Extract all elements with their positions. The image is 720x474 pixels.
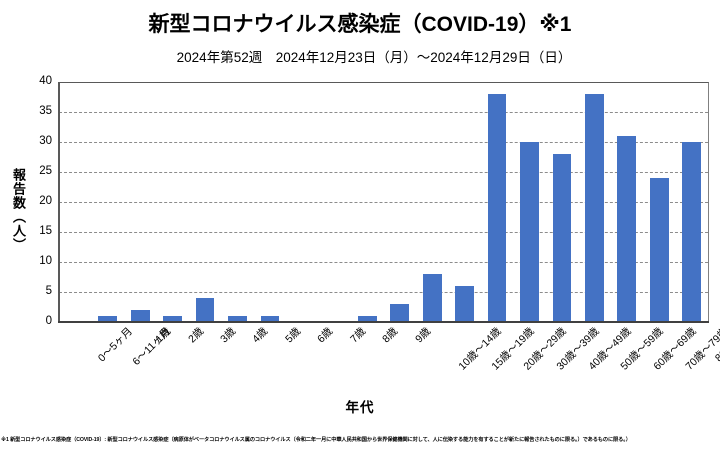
bar[interactable] [650, 178, 669, 322]
chart-subtitle: 2024年第52週 2024年12月23日（月）～2024年12月29日（日） [0, 46, 720, 66]
y-tick-label: 15 [26, 226, 52, 237]
x-tick-label: 5歳 [284, 326, 303, 345]
bar[interactable] [455, 286, 474, 322]
bar-column[interactable] [286, 82, 318, 322]
bar[interactable] [520, 142, 539, 322]
bar-column[interactable] [611, 82, 643, 322]
bar-column[interactable] [384, 82, 416, 322]
x-tick-label: 8歳 [381, 326, 400, 345]
x-axis-tick-labels: 0～5ヶ月6～11ヶ月1歳2歳3歳4歳5歳6歳7歳8歳9歳10歳～14歳15歳～… [59, 323, 708, 393]
x-axis-title: 年代 [0, 396, 720, 416]
x-tick-label: 6歳 [316, 326, 335, 345]
bar-column[interactable] [513, 82, 545, 322]
bar-column[interactable] [351, 82, 383, 322]
x-tick-label: 4歳 [251, 326, 270, 345]
x-tick-label: 7歳 [349, 326, 368, 345]
bar-column[interactable] [59, 82, 91, 322]
y-tick-label: 40 [26, 76, 52, 87]
y-tick-label: 20 [26, 196, 52, 207]
bar[interactable] [617, 136, 636, 322]
x-tick-label: 9歳 [414, 326, 433, 345]
bar-column[interactable] [416, 82, 448, 322]
bar-column[interactable] [254, 82, 286, 322]
y-tick-label: 30 [26, 136, 52, 147]
bar-column[interactable] [221, 82, 253, 322]
bar-column[interactable] [676, 82, 708, 322]
y-axis-tick-labels: 0510152025303540 [22, 82, 52, 322]
bar[interactable] [423, 274, 442, 322]
x-tick-label: 2歳 [186, 326, 205, 345]
bar-column[interactable] [481, 82, 513, 322]
bar-column[interactable] [124, 82, 156, 322]
plot-area [59, 82, 708, 322]
bar-column[interactable] [448, 82, 480, 322]
bar[interactable] [488, 94, 507, 322]
y-axis-line [58, 82, 60, 323]
y-tick-label: 0 [26, 316, 52, 327]
bar-column[interactable] [156, 82, 188, 322]
bar[interactable] [196, 298, 215, 322]
bar-column[interactable] [319, 82, 351, 322]
bar[interactable] [553, 154, 572, 322]
y-tick-label: 5 [26, 286, 52, 297]
y-tick-label: 25 [26, 166, 52, 177]
footnote: ※1 新型コロナウイルス感染症（COVID-19）: 新型コロナウイルス感染症（… [1, 437, 717, 445]
bar-column[interactable] [643, 82, 675, 322]
bar[interactable] [390, 304, 409, 322]
bar-column[interactable] [546, 82, 578, 322]
y-tick-label: 35 [26, 106, 52, 117]
bar-column[interactable] [578, 82, 610, 322]
page-title: 新型コロナウイルス感染症（COVID-19）※1 [0, 8, 720, 38]
bar[interactable] [585, 94, 604, 322]
bar-column[interactable] [91, 82, 123, 322]
bar[interactable] [682, 142, 701, 322]
x-tick-label: 3歳 [219, 326, 238, 345]
bar-column[interactable] [189, 82, 221, 322]
y-tick-label: 10 [26, 256, 52, 267]
